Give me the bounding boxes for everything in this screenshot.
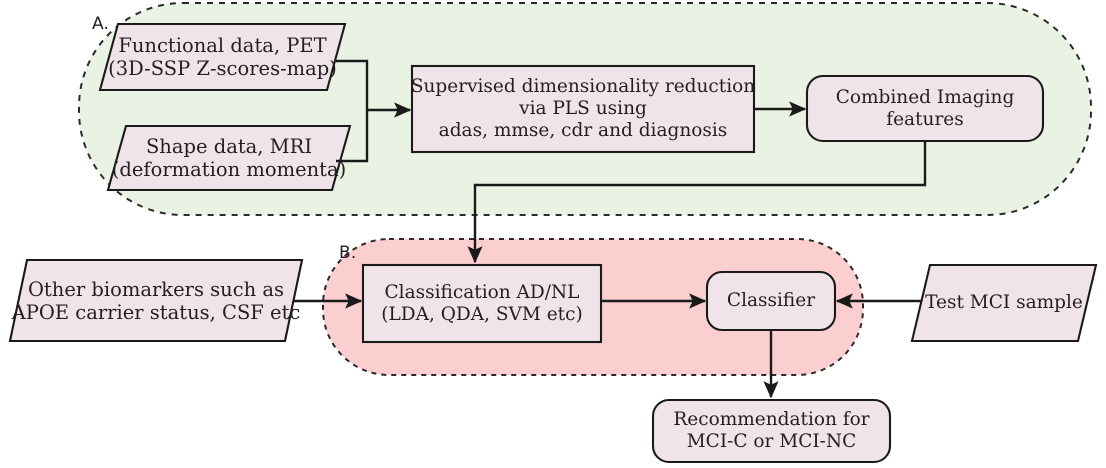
node-functional-data — [100, 24, 345, 90]
node-test-mci-sample — [912, 265, 1096, 341]
node-shape-data — [108, 126, 350, 190]
flowchart-canvas: A. B. Functional data, PET (3D-SSP Z-sco… — [0, 0, 1106, 468]
flowchart-vector-layer — [0, 0, 1106, 468]
node-other-biomarkers — [10, 260, 302, 341]
region-b-tag: B. — [339, 243, 356, 263]
node-recommendation — [653, 400, 890, 462]
node-combined-features — [807, 76, 1043, 141]
node-dimensionality-reduction — [412, 66, 754, 152]
region-a-tag: A. — [92, 14, 109, 34]
node-classifier — [707, 272, 835, 330]
node-classification — [363, 265, 601, 342]
